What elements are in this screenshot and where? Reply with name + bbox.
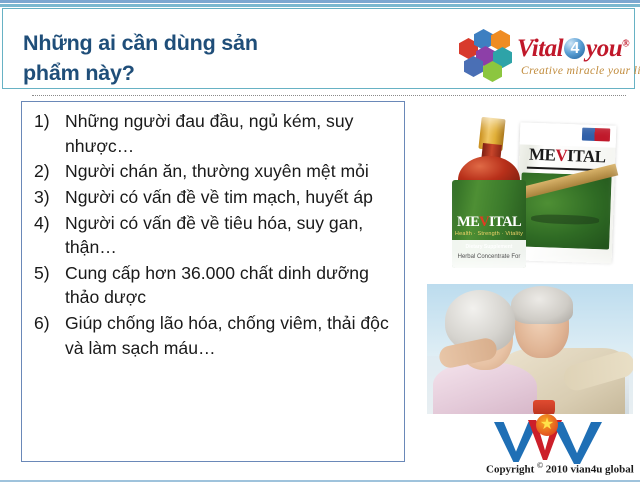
- carton-brand-post: ITAL: [567, 146, 606, 166]
- content-textbox: 1) Những người đau đầu, ngủ kém, suy như…: [21, 101, 405, 462]
- copyright-label: Copyright: [486, 464, 534, 476]
- star-badge-icon: ★: [536, 414, 558, 436]
- top-decoration-band-inner: [0, 4, 640, 7]
- list-item: 6) Giúp chống lão hóa, chống viêm, thải …: [34, 311, 394, 360]
- list-item-number: 3): [34, 185, 65, 210]
- list-item-number: 5): [34, 261, 65, 310]
- carton-brand-v: V: [555, 146, 567, 165]
- list-item-text: Người có vấn đề về tiêu hóa, suy gan, th…: [65, 211, 394, 260]
- copyright-owner: 2010 vian4u global: [546, 464, 634, 476]
- photo-red-cup: [533, 400, 555, 414]
- list-item-text: Người có vấn đề về tim mạch, huyết áp: [65, 185, 394, 210]
- bottle-benefits-text: Health · Strength · Vitality: [452, 231, 526, 237]
- footer-viv-logo: ★: [494, 414, 612, 462]
- page-title-line-1: Những ai cần dùng sản: [23, 29, 403, 59]
- product-bottle: MEVITAL Health · Strength · Vitality Die…: [444, 118, 528, 268]
- product-carton-box: MEVITAL: [516, 122, 617, 263]
- brand-numeral-sphere-icon: 4: [564, 38, 585, 59]
- top-decoration-band-outer: [0, 0, 640, 3]
- elderly-couple-photo: [427, 284, 633, 414]
- photo-man-hair: [511, 286, 573, 324]
- list-item-number: 6): [34, 311, 65, 360]
- bottle-body-label: MEVITAL Health · Strength · Vitality Die…: [452, 180, 526, 268]
- carton-brand-pre: ME: [529, 145, 556, 165]
- list-item-text: Cung cấp hơn 36.000 chất dinh dưỡng thảo…: [65, 261, 394, 310]
- list-item: 4) Người có vấn đề về tiêu hóa, suy gan,…: [34, 211, 394, 260]
- copyright-symbol: ©: [537, 461, 543, 470]
- list-item: 1) Những người đau đầu, ngủ kém, suy như…: [34, 109, 394, 158]
- bottle-brand-post: ITAL: [489, 214, 521, 230]
- list-item-number: 4): [34, 211, 65, 260]
- bottle-brand-pre: ME: [457, 214, 479, 230]
- brand-name-part1: Vital: [517, 35, 563, 62]
- hexagon-orange-icon: [491, 30, 510, 51]
- carton-corner-logo-icon: [582, 128, 610, 142]
- list-item: 2) Người chán ăn, thường xuyên mệt mỏi: [34, 159, 394, 184]
- page-title-line-2: phẩm này?: [23, 59, 403, 89]
- title-frame: Những ai cần dùng sản phẩm này? Vital4yo…: [2, 8, 635, 89]
- star-icon: ★: [536, 414, 558, 436]
- list-item-text: Người chán ăn, thường xuyên mệt mỏi: [65, 159, 394, 184]
- brand-numeral: 4: [564, 38, 585, 59]
- bottle-brand-v: V: [479, 214, 489, 230]
- list-item-text: Giúp chống lão hóa, chống viêm, thải độc…: [65, 311, 394, 360]
- brand-tagline: Creative miracle your life: [521, 65, 640, 77]
- brand-wordmark: Vital4you®: [517, 35, 629, 63]
- list-item-number: 2): [34, 159, 65, 184]
- list-item-text: Những người đau đầu, ngủ kém, suy nhược…: [65, 109, 394, 158]
- bottle-brand-text: MEVITAL: [452, 214, 526, 231]
- list-item: 3) Người có vấn đề về tim mạch, huyết áp: [34, 185, 394, 210]
- list-item: 5) Cung cấp hơn 36.000 chất dinh dưỡng t…: [34, 261, 394, 310]
- brand-logo: Vital4you® Creative miracle your life: [455, 21, 631, 87]
- slide-canvas: Những ai cần dùng sản phẩm này? Vital4yo…: [0, 0, 640, 482]
- carton-brand-text: MEVITAL: [523, 144, 612, 167]
- page-title: Những ai cần dùng sản phẩm này?: [23, 29, 403, 88]
- hexagon-cluster-icon: [459, 25, 517, 81]
- list-item-number: 1): [34, 109, 65, 158]
- registered-trademark-mark: ®: [622, 39, 629, 50]
- dotted-divider: [32, 95, 626, 96]
- brand-name-part2: you: [586, 35, 622, 62]
- bottle-concentrate-text: Herbal Concentrate For: [452, 254, 526, 260]
- product-image: MEVITAL MEVITAL Health · Strength · Vita…: [432, 112, 632, 272]
- logo-v-right-shape: [552, 422, 602, 464]
- numbered-list: 1) Những người đau đầu, ngủ kém, suy như…: [34, 109, 394, 361]
- bottle-supplement-text: Dietary Supplement: [452, 244, 526, 250]
- copyright-notice: Copyright © 2010 vian4u global: [486, 461, 640, 476]
